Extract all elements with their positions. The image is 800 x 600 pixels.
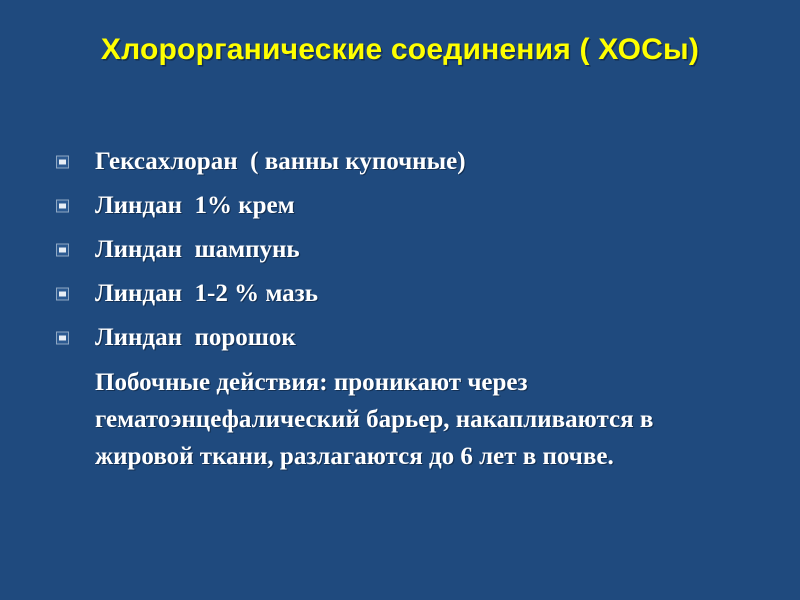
bullet-list: Гексахлоран ( ванны купочные) Линдан 1% … [48,140,760,360]
square-bullet-icon [56,156,69,169]
list-item-label: Линдан шампунь [95,235,300,265]
square-bullet-icon [56,200,69,213]
list-item-label: Гексахлоран ( ванны купочные) [95,147,466,177]
square-bullet-icon [56,288,69,301]
presentation-slide: Хлорорганические соединения ( ХОСы) Гекс… [0,0,800,600]
slide-title: Хлорорганические соединения ( ХОСы) [60,30,740,70]
list-item[interactable]: Линдан 1% крем [48,184,760,228]
slide-title-text: Хлорорганические соединения ( ХОСы) [60,30,740,70]
square-bullet-icon [56,244,69,257]
list-item-label: Линдан 1-2 % мазь [95,279,318,309]
list-item[interactable]: Линдан порошок [48,316,760,360]
list-item[interactable]: Линдан шампунь [48,228,760,272]
list-item[interactable]: Гексахлоран ( ванны купочные) [48,140,760,184]
list-item-label: Линдан порошок [95,323,296,353]
side-effects-paragraph: Побочные действия: проникают через гемат… [48,360,715,475]
slide-body: Гексахлоран ( ванны купочные) Линдан 1% … [48,140,760,475]
list-item-label: Линдан 1% крем [95,191,295,221]
square-bullet-icon [56,332,69,345]
list-item[interactable]: Линдан 1-2 % мазь [48,272,760,316]
